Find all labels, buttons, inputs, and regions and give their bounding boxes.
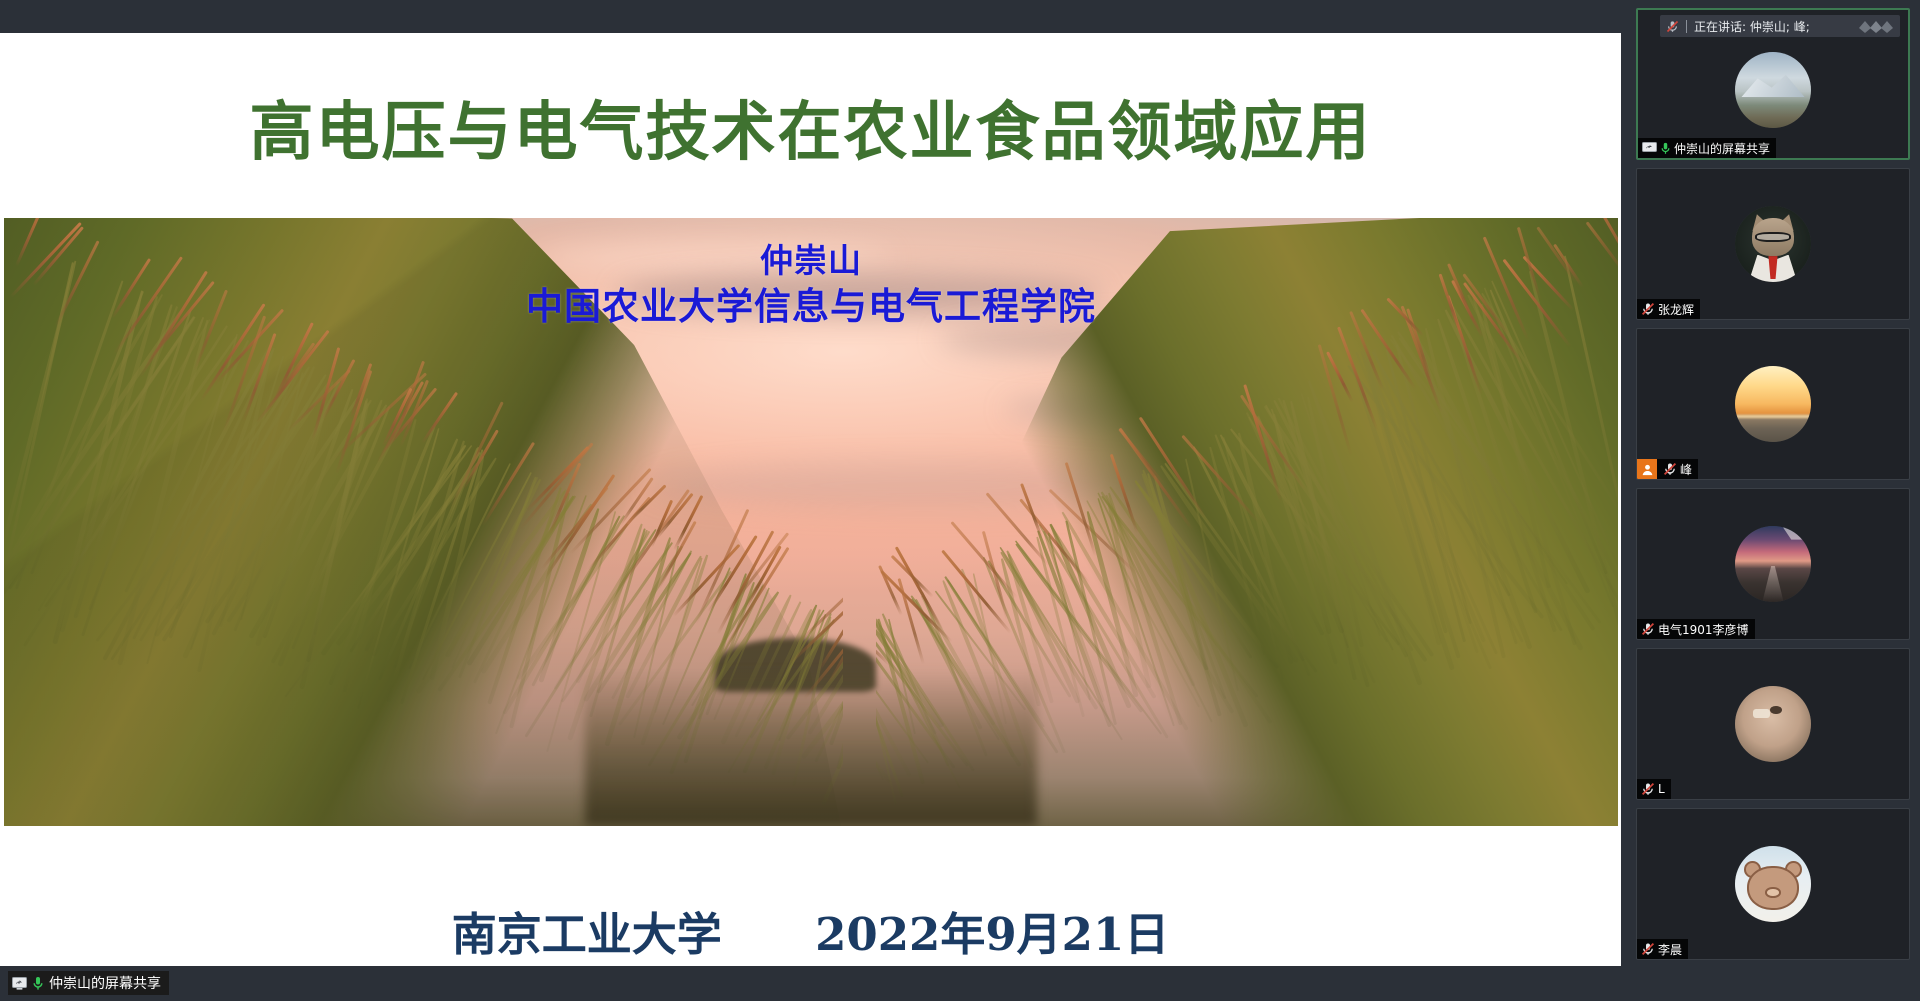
slide-title: 高电压与电气技术在农业食品领域应用 <box>0 81 1621 173</box>
participant-name-badge: 峰 <box>1637 459 1698 479</box>
avatar <box>1735 52 1811 128</box>
participant-filmstrip[interactable]: 正在讲话: 仲崇山; 峰; <box>1630 0 1920 1001</box>
participant-name-badge: 电气1901李彦博 <box>1637 619 1755 639</box>
participant-name: 峰 <box>1680 461 1692 478</box>
avatar <box>1735 846 1811 922</box>
participant-name: 李晨 <box>1658 941 1682 958</box>
screen-share-icon <box>12 977 27 990</box>
corn-field-photo: 仲崇山 中国农业大学信息与电气工程学院 <box>4 218 1618 826</box>
shared-screen-stage[interactable]: 高电压与电气技术在农业食品领域应用 仲崇山 中国农业大学信息 <box>0 0 1630 1001</box>
share-status-label: 仲崇山的屏幕共享 <box>49 973 161 993</box>
avatar <box>1735 686 1811 762</box>
microphone-unmuted-icon <box>32 976 44 991</box>
footer-date: 2022年9月21日 <box>815 908 1169 961</box>
microphone-muted-icon <box>1666 20 1679 33</box>
active-speaker-label: 正在讲话: 仲崇山; 峰; <box>1694 18 1810 35</box>
microphone-muted-icon <box>1637 942 1655 956</box>
participant-name-badge: 李晨 <box>1637 939 1688 959</box>
participant-tile[interactable]: 峰 <box>1636 328 1910 480</box>
filmstrip-spacer <box>1636 968 1910 993</box>
audio-wave-icon <box>1858 18 1894 34</box>
slide-footer: 南京工业大学 2022年9月21日 <box>0 898 1621 963</box>
participant-name-badge: L <box>1637 779 1671 799</box>
avatar <box>1735 206 1811 282</box>
participant-name: 仲崇山的屏幕共享 <box>1674 140 1770 157</box>
speaker-bar-divider <box>1686 20 1687 33</box>
avatar <box>1735 526 1811 602</box>
corn-tassel <box>891 555 934 598</box>
presenter-organization: 中国农业大学信息与电气工程学院 <box>4 285 1618 329</box>
participant-tile[interactable]: L <box>1636 648 1910 800</box>
microphone-muted-icon <box>1637 302 1655 316</box>
participant-name: 张龙辉 <box>1658 301 1694 318</box>
presenter-name: 仲崇山 <box>4 242 1618 281</box>
presentation-slide: 高电压与电气技术在农业食品领域应用 仲崇山 中国农业大学信息 <box>0 33 1621 966</box>
meeting-window: 高电压与电气技术在农业食品领域应用 仲崇山 中国农业大学信息 <box>0 0 1920 1001</box>
participant-name: 电气1901李彦博 <box>1658 621 1749 638</box>
participant-name-badge: 张龙辉 <box>1637 299 1700 319</box>
microphone-muted-icon <box>1637 622 1655 636</box>
microphone-unmuted-icon <box>1660 142 1671 155</box>
participant-name-badge: 仲崇山的屏幕共享 <box>1638 138 1776 158</box>
presenter-credits: 仲崇山 中国农业大学信息与电气工程学院 <box>4 242 1618 329</box>
screen-share-status-bar: 仲崇山的屏幕共享 <box>8 971 169 995</box>
active-speaker-bar: 正在讲话: 仲崇山; 峰; <box>1660 15 1900 37</box>
participant-tile[interactable]: 张龙辉 <box>1636 168 1910 320</box>
participant-name: L <box>1658 782 1665 796</box>
screen-share-icon <box>1638 142 1657 154</box>
microphone-muted-icon <box>1637 782 1655 796</box>
footer-venue: 南京工业大学 <box>452 908 722 961</box>
participant-tile[interactable]: 李晨 <box>1636 808 1910 960</box>
host-person-icon <box>1637 459 1657 479</box>
participant-tile-screen-share[interactable]: 正在讲话: 仲崇山; 峰; <box>1636 8 1910 160</box>
microphone-muted-icon <box>1660 462 1677 476</box>
participant-tile[interactable]: 电气1901李彦博 <box>1636 488 1910 640</box>
avatar <box>1735 366 1811 442</box>
